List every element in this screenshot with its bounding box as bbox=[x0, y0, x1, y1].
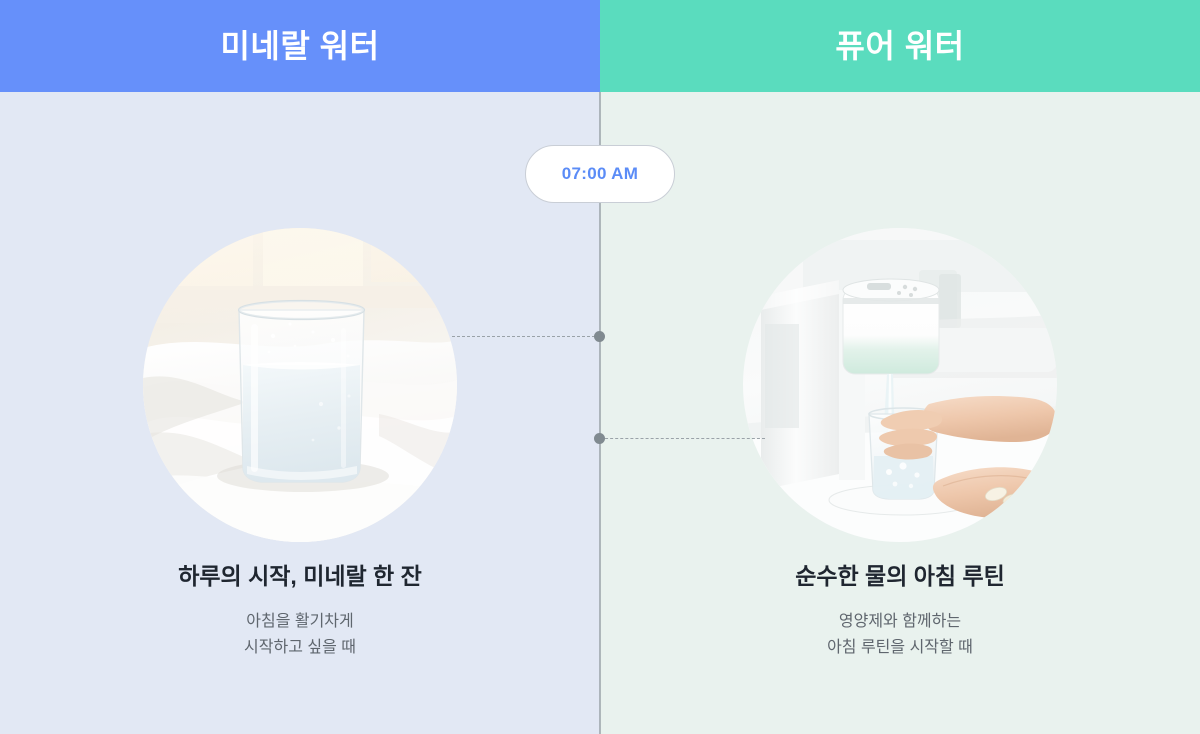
caption-subtitle-pure-line-1: 영양제와 함께하는 bbox=[600, 609, 1200, 635]
caption-title-pure: 순수한 물의 아침 루틴 bbox=[600, 562, 1200, 592]
caption-subtitle-pure: 영양제와 함께하는 아침 루틴을 시작할 때 bbox=[600, 609, 1200, 662]
connector-dot-upper bbox=[594, 331, 605, 342]
glass-of-water-on-bed-photo bbox=[143, 228, 457, 542]
caption-mineral-water: 하루의 시작, 미네랄 한 잔 아침을 활기차게 시작하고 싶을 때 bbox=[0, 562, 600, 662]
time-badge-label: 07:00 AM bbox=[562, 164, 638, 184]
water-purifier-dispensing-photo bbox=[743, 228, 1057, 542]
header-mineral-water: 미네랄 워터 bbox=[0, 0, 600, 92]
caption-title-mineral: 하루의 시작, 미네랄 한 잔 bbox=[0, 562, 600, 592]
time-badge: 07:00 AM bbox=[525, 145, 675, 203]
caption-pure-water: 순수한 물의 아침 루틴 영양제와 함께하는 아침 루틴을 시작할 때 bbox=[600, 562, 1200, 662]
header-pure-water: 퓨어 워터 bbox=[600, 0, 1200, 92]
column-pure-water: 순수한 물의 아침 루틴 영양제와 함께하는 아침 루틴을 시작할 때 bbox=[600, 92, 1200, 734]
header-title-mineral: 미네랄 워터 bbox=[220, 30, 379, 62]
column-mineral-water: 하루의 시작, 미네랄 한 잔 아침을 활기차게 시작하고 싶을 때 bbox=[0, 92, 600, 734]
caption-subtitle-mineral: 아침을 활기차게 시작하고 싶을 때 bbox=[0, 609, 600, 662]
comparison-board: 미네랄 워터 퓨어 워터 07:00 AM bbox=[0, 0, 1200, 734]
connector-dot-lower bbox=[594, 433, 605, 444]
caption-subtitle-mineral-line-1: 아침을 활기차게 bbox=[0, 609, 600, 635]
connector-line-lower bbox=[600, 438, 765, 439]
header-title-pure: 퓨어 워터 bbox=[835, 30, 964, 62]
caption-subtitle-mineral-line-2: 시작하고 싶을 때 bbox=[0, 635, 600, 661]
connector-line-upper bbox=[452, 336, 600, 337]
caption-subtitle-pure-line-2: 아침 루틴을 시작할 때 bbox=[600, 635, 1200, 661]
